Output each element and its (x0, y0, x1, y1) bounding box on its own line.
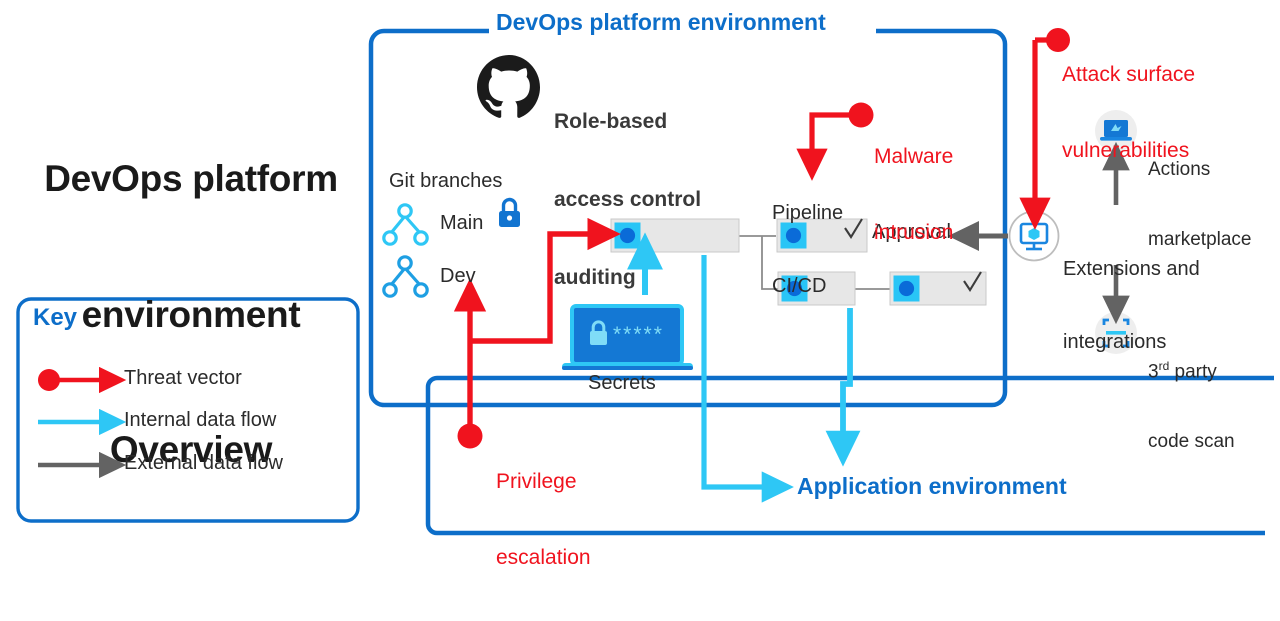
github-icon (477, 55, 540, 118)
key-item-threat-vector-label: Threat vector (124, 367, 242, 389)
threat-label-privilege-escalation: Privilege escalation (496, 419, 591, 621)
page-title-line-1: DevOps platform (16, 156, 366, 201)
rbac-line-1: Role-based (554, 109, 701, 135)
key-title: Key (33, 305, 77, 332)
threat-malware-line-1: Malware (874, 144, 953, 169)
pipeline-label: Pipeline CI/CD (772, 152, 843, 347)
code-scan-label: 3rd party code scan (1148, 313, 1235, 500)
git-branch-label-main[interactable]: Main (440, 212, 483, 234)
secrets-label: Secrets (588, 372, 656, 394)
threat-label-malware-intrusion: Malware intrusion (874, 94, 953, 296)
threat-label-attack-surface: Attack surface vulnerabilities (1062, 12, 1195, 214)
key-item-internal-flow-label: Internal data flow (124, 409, 276, 431)
internal-flow-pipeline-to-app (704, 255, 770, 487)
pipeline-label-line-2: CI/CD (772, 274, 843, 298)
extensions-hub-icon[interactable] (1010, 212, 1059, 261)
git-branch-label-dev[interactable]: Dev (440, 265, 476, 287)
threat-attack-line-1: Attack surface (1062, 62, 1195, 87)
devops-environment-title: DevOps platform environment (489, 10, 833, 36)
rbac-line-3: auditing (554, 265, 701, 291)
code-scan-line-2: code scan (1148, 430, 1235, 453)
rbac-line-2: access control (554, 187, 701, 213)
threat-attack-line-2: vulnerabilities (1062, 138, 1195, 163)
git-branch-icon-main (384, 205, 427, 244)
actions-marketplace-line-2: marketplace (1148, 228, 1252, 251)
threat-priv-line-1: Privilege (496, 469, 591, 494)
application-environment-title: Application environment (797, 474, 1067, 500)
threat-malware-line-2: intrusion (874, 220, 953, 245)
threat-vector-malware-intrusion (812, 103, 874, 158)
padlock-icon (499, 200, 520, 228)
internal-flow-release-to-app (843, 308, 850, 440)
git-branches-heading: Git branches (389, 170, 502, 192)
code-scan-line-1: 3rd party (1148, 359, 1235, 384)
code-scan-ordinal-suffix: rd (1159, 359, 1170, 373)
git-branch-icon-dev (384, 257, 427, 296)
pipeline-label-line-1: Pipeline (772, 201, 843, 225)
diagram-canvas: ***** (0, 0, 1280, 549)
rbac-label: Role-based access control auditing (554, 57, 701, 343)
key-item-external-flow-label: External data flow (124, 452, 283, 474)
